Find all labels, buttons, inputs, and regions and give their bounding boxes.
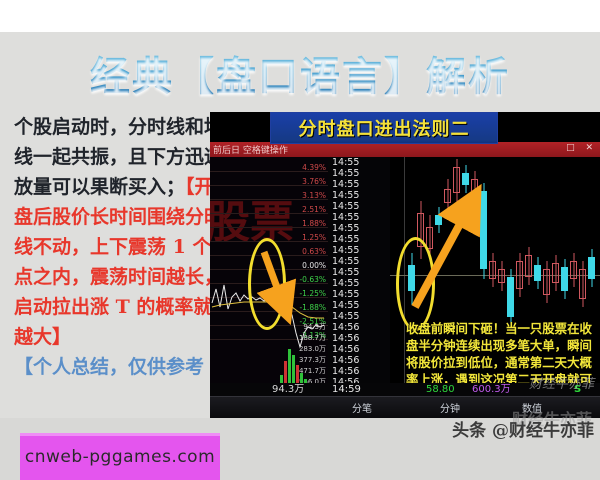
title-part-1: 经典 <box>90 53 174 100</box>
title-bracket-close: 】 <box>384 53 426 100</box>
tick-time: 14:56 <box>332 355 359 366</box>
page-title: 经典【盘口语言】解析 <box>0 44 600 102</box>
tick-time: 14:55 <box>332 168 359 179</box>
tick-time: 14:56 <box>332 344 359 355</box>
tick-time: 14:55 <box>332 267 359 278</box>
tick-time: 14:55 <box>332 289 359 300</box>
tick-time: 14:55 <box>332 190 359 201</box>
tab-1[interactable]: 分钟 <box>420 400 480 415</box>
status-left-value: 94.3万 <box>272 383 304 397</box>
banner-headline: 分时盘口进出法则二 <box>270 112 498 144</box>
tick-time: 14:55 <box>332 300 359 311</box>
tick-time: 14:55 <box>332 245 359 256</box>
inner-watermark: 财经牛亦菲 <box>529 373 594 392</box>
article-blue-text: 【个人总结，仅供参考 <box>14 356 204 378</box>
article-red-text: 【开盘后股价长时间围绕分时线不动，上下震荡 1 个点之内，震荡时间越长，启动拉出… <box>14 176 223 348</box>
status-volume: 600.3万 <box>472 383 511 397</box>
site-watermark-text: cnweb-pggames.com <box>20 433 220 480</box>
tick-time: 14:56 <box>332 333 359 344</box>
article-text: 个股启动时，分时线和均线一起共振，且下方迅速放量可以果断买入；【开盘后股价长时间… <box>14 112 224 382</box>
window-controls[interactable]: □ ✕ <box>566 143 597 153</box>
slide-root: 经典【盘口语言】解析 个股启动时，分时线和均线一起共振，且下方迅速放量可以果断买… <box>0 0 600 480</box>
tick-time: 14:55 <box>332 256 359 267</box>
tick-time: 14:56 <box>332 322 359 333</box>
tick-time: 14:55 <box>332 201 359 212</box>
top-white-strip <box>0 0 600 32</box>
tab-0[interactable]: 分笔 <box>332 400 392 415</box>
tick-time: 14:56 <box>332 366 359 377</box>
tick-time: 14:55 <box>332 278 359 289</box>
bottom-watermark: 头条 @财经牛亦菲 <box>452 416 594 441</box>
tick-time: 14:55 <box>332 179 359 190</box>
tick-time: 14:55 <box>332 234 359 245</box>
status-time: 14:59 <box>332 383 361 397</box>
tick-time: 14:55 <box>332 157 359 168</box>
annotation-ellipse-intraday <box>248 238 286 330</box>
app-title-bar: 前后日 空格键操作 □ ✕ <box>210 142 600 157</box>
annotation-ellipse-kline <box>396 237 435 331</box>
title-part-2: 解析 <box>426 53 510 100</box>
trading-app-screenshot: 分时盘口进出法则二 前后日 空格键操作 □ ✕ 股票 4.39%3.76%3.1… <box>210 112 600 418</box>
title-inner: 盘口语言 <box>216 53 384 100</box>
status-price: 58.80 <box>426 383 455 397</box>
tick-time: 14:55 <box>332 311 359 322</box>
banner-label: 分时盘口进出法则二 <box>299 115 470 141</box>
title-bracket-open: 【 <box>174 53 216 100</box>
app-title-text: 前后日 空格键操作 <box>213 143 288 156</box>
site-watermark-bar: cnweb-pggames.com <box>20 433 220 480</box>
tick-time: 14:55 <box>332 223 359 234</box>
tick-time: 14:55 <box>332 212 359 223</box>
